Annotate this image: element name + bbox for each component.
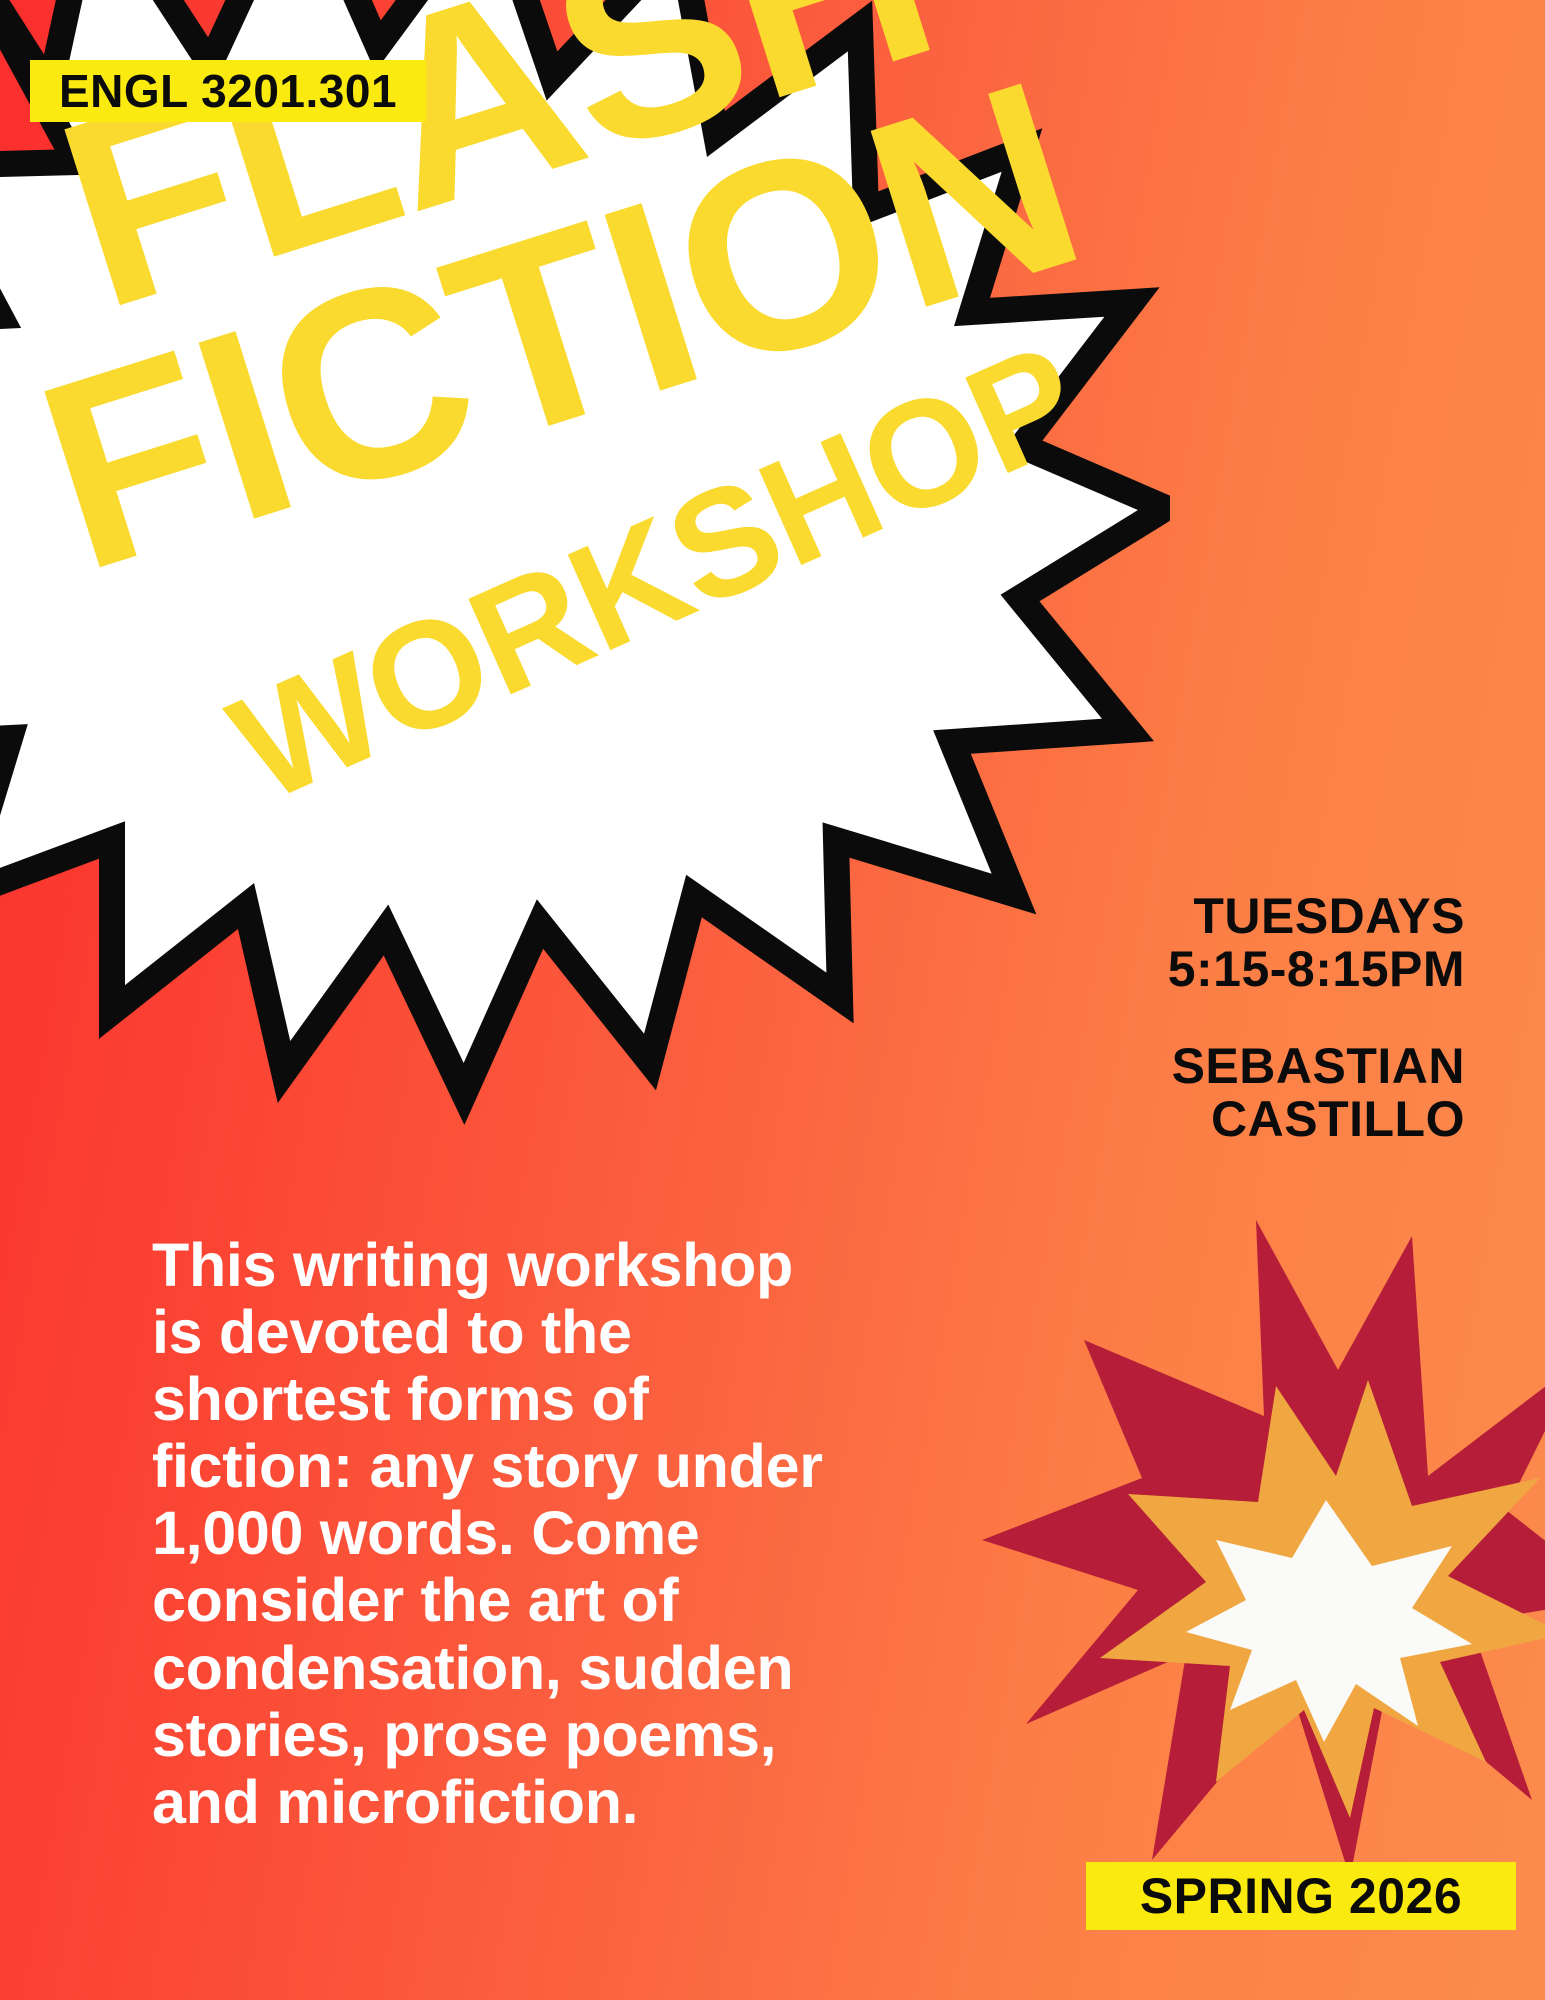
nested-star-icon — [1020, 1210, 1545, 1890]
schedule-and-instructor: TUESDAYS 5:15-8:15PM SEBASTIAN CASTILLO — [905, 890, 1465, 1146]
poster-title: FLASH FICTION WORKSHOP — [0, 0, 1220, 820]
term-badge: SPRING 2026 — [1086, 1862, 1516, 1930]
course-code-badge: ENGL 3201.301 — [30, 60, 426, 122]
workshop-description: This writing workshop is devoted to the … — [152, 1232, 852, 1836]
schedule-group: TUESDAYS 5:15-8:15PM — [905, 890, 1465, 996]
instructor-group: SEBASTIAN CASTILLO — [905, 1040, 1465, 1146]
instructor-first-name: SEBASTIAN — [905, 1040, 1465, 1093]
schedule-time: 5:15-8:15PM — [905, 943, 1465, 996]
schedule-day: TUESDAYS — [905, 890, 1465, 943]
instructor-last-name: CASTILLO — [905, 1093, 1465, 1146]
flash-fiction-workshop-poster: FLASH FICTION WORKSHOP ENGL 3201.301 TUE… — [0, 0, 1545, 2000]
